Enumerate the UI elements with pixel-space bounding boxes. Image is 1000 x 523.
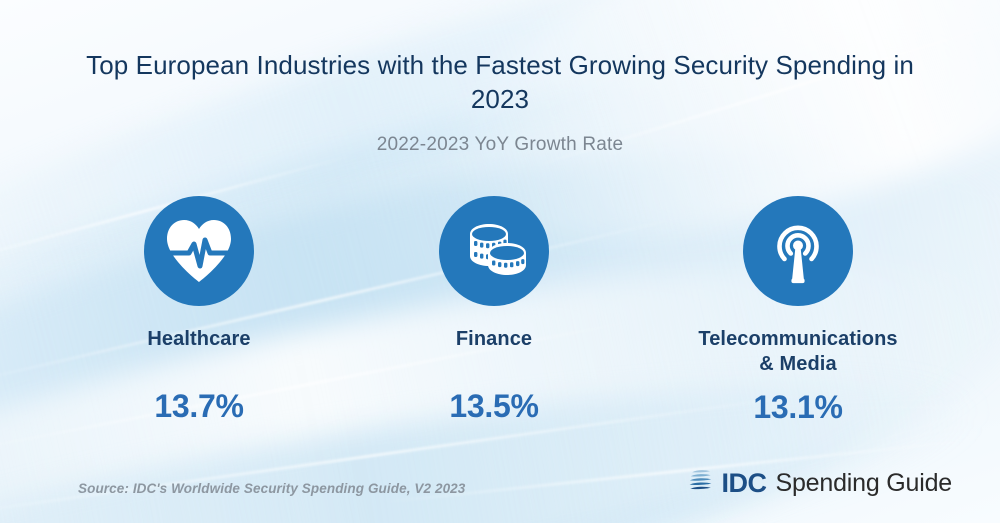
telecommunications-label-line1: Telecommunications (698, 328, 897, 350)
finance-value: 13.5% (344, 388, 644, 425)
industry-column-healthcare: Healthcare 13.7% (49, 196, 349, 425)
industry-column-finance: Finance 13.5% (344, 196, 644, 425)
idc-wordmark: IDC (721, 470, 766, 497)
idc-spending-guide-logo: IDC Spending Guide (689, 468, 952, 498)
heart-pulse-icon (163, 218, 235, 284)
telecommunications-value: 13.1% (648, 389, 948, 426)
spending-guide-wordmark: Spending Guide (775, 471, 952, 496)
broadcast-antenna-icon (764, 216, 832, 286)
finance-label: Finance (344, 327, 644, 352)
telecommunications-label: Telecommunications & Media (648, 327, 948, 377)
healthcare-icon-badge (144, 196, 254, 306)
healthcare-label: Healthcare (49, 327, 349, 352)
finance-icon-badge (439, 196, 549, 306)
healthcare-value: 13.7% (49, 388, 349, 425)
industry-column-telecommunications: Telecommunications & Media 13.1% (648, 196, 948, 426)
page-subtitle: 2022-2023 YoY Growth Rate (150, 134, 850, 156)
idc-stacked-bars-icon (689, 468, 712, 498)
infographic-canvas: Top European Industries with the Fastest… (0, 0, 1000, 523)
page-title: Top European Industries with the Fastest… (75, 48, 925, 116)
telecommunications-label-line2: & Media (759, 353, 836, 375)
source-note: Source: IDC's Worldwide Security Spendin… (78, 481, 465, 496)
telecommunications-icon-badge (743, 196, 853, 306)
stacked-coins-icon (458, 220, 530, 282)
